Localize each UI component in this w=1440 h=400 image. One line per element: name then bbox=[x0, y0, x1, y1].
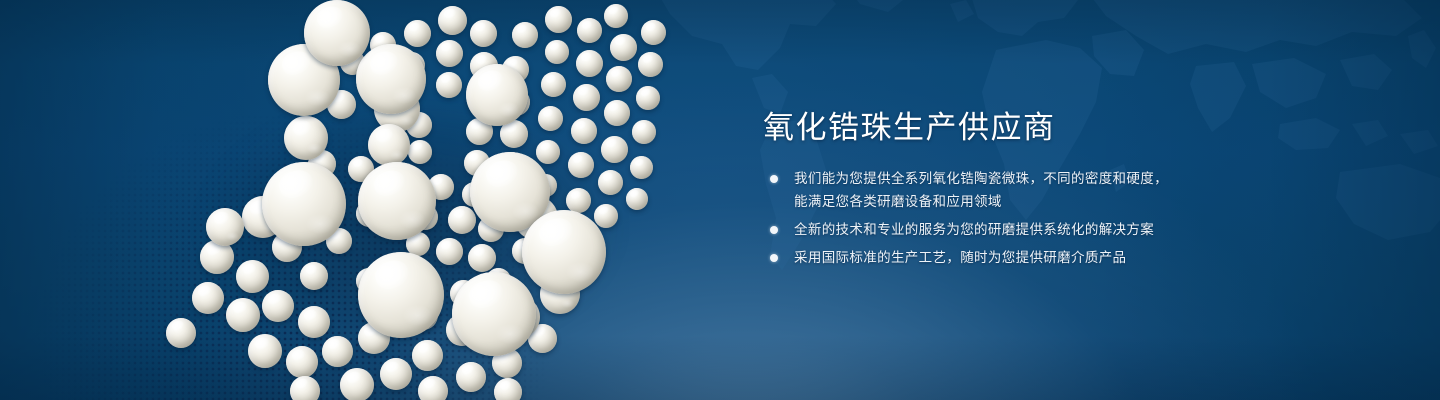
hero-banner: 氧化锆珠生产供应商 我们能为您提供全系列氧化锆陶瓷微珠，不同的密度和硬度， 能满… bbox=[0, 0, 1440, 400]
banner-text-block: 氧化锆珠生产供应商 我们能为您提供全系列氧化锆陶瓷微珠，不同的密度和硬度， 能满… bbox=[763, 0, 1403, 400]
page-title: 氧化锆珠生产供应商 bbox=[763, 108, 1056, 148]
bullet-dot-icon bbox=[770, 254, 778, 262]
bullet-dot-icon bbox=[770, 226, 778, 234]
list-item: 全新的技术和专业的服务为您的研磨提供系统化的解决方案 bbox=[766, 218, 1236, 241]
list-item-line: 我们能为您提供全系列氧化锆陶瓷微珠，不同的密度和硬度， bbox=[794, 167, 1236, 190]
bullet-dot-icon bbox=[770, 175, 778, 183]
list-item-line: 能满足您各类研磨设备和应用领域 bbox=[794, 190, 1236, 213]
list-item: 我们能为您提供全系列氧化锆陶瓷微珠，不同的密度和硬度， 能满足您各类研磨设备和应… bbox=[766, 167, 1236, 213]
feature-list: 我们能为您提供全系列氧化锆陶瓷微珠，不同的密度和硬度， 能满足您各类研磨设备和应… bbox=[766, 167, 1236, 269]
list-item: 采用国际标准的生产工艺，随时为您提供研磨介质产品 bbox=[766, 246, 1236, 269]
list-item-line: 采用国际标准的生产工艺，随时为您提供研磨介质产品 bbox=[794, 246, 1236, 269]
list-item-line: 全新的技术和专业的服务为您的研磨提供系统化的解决方案 bbox=[794, 218, 1236, 241]
zirconia-beads-photo bbox=[0, 0, 760, 400]
